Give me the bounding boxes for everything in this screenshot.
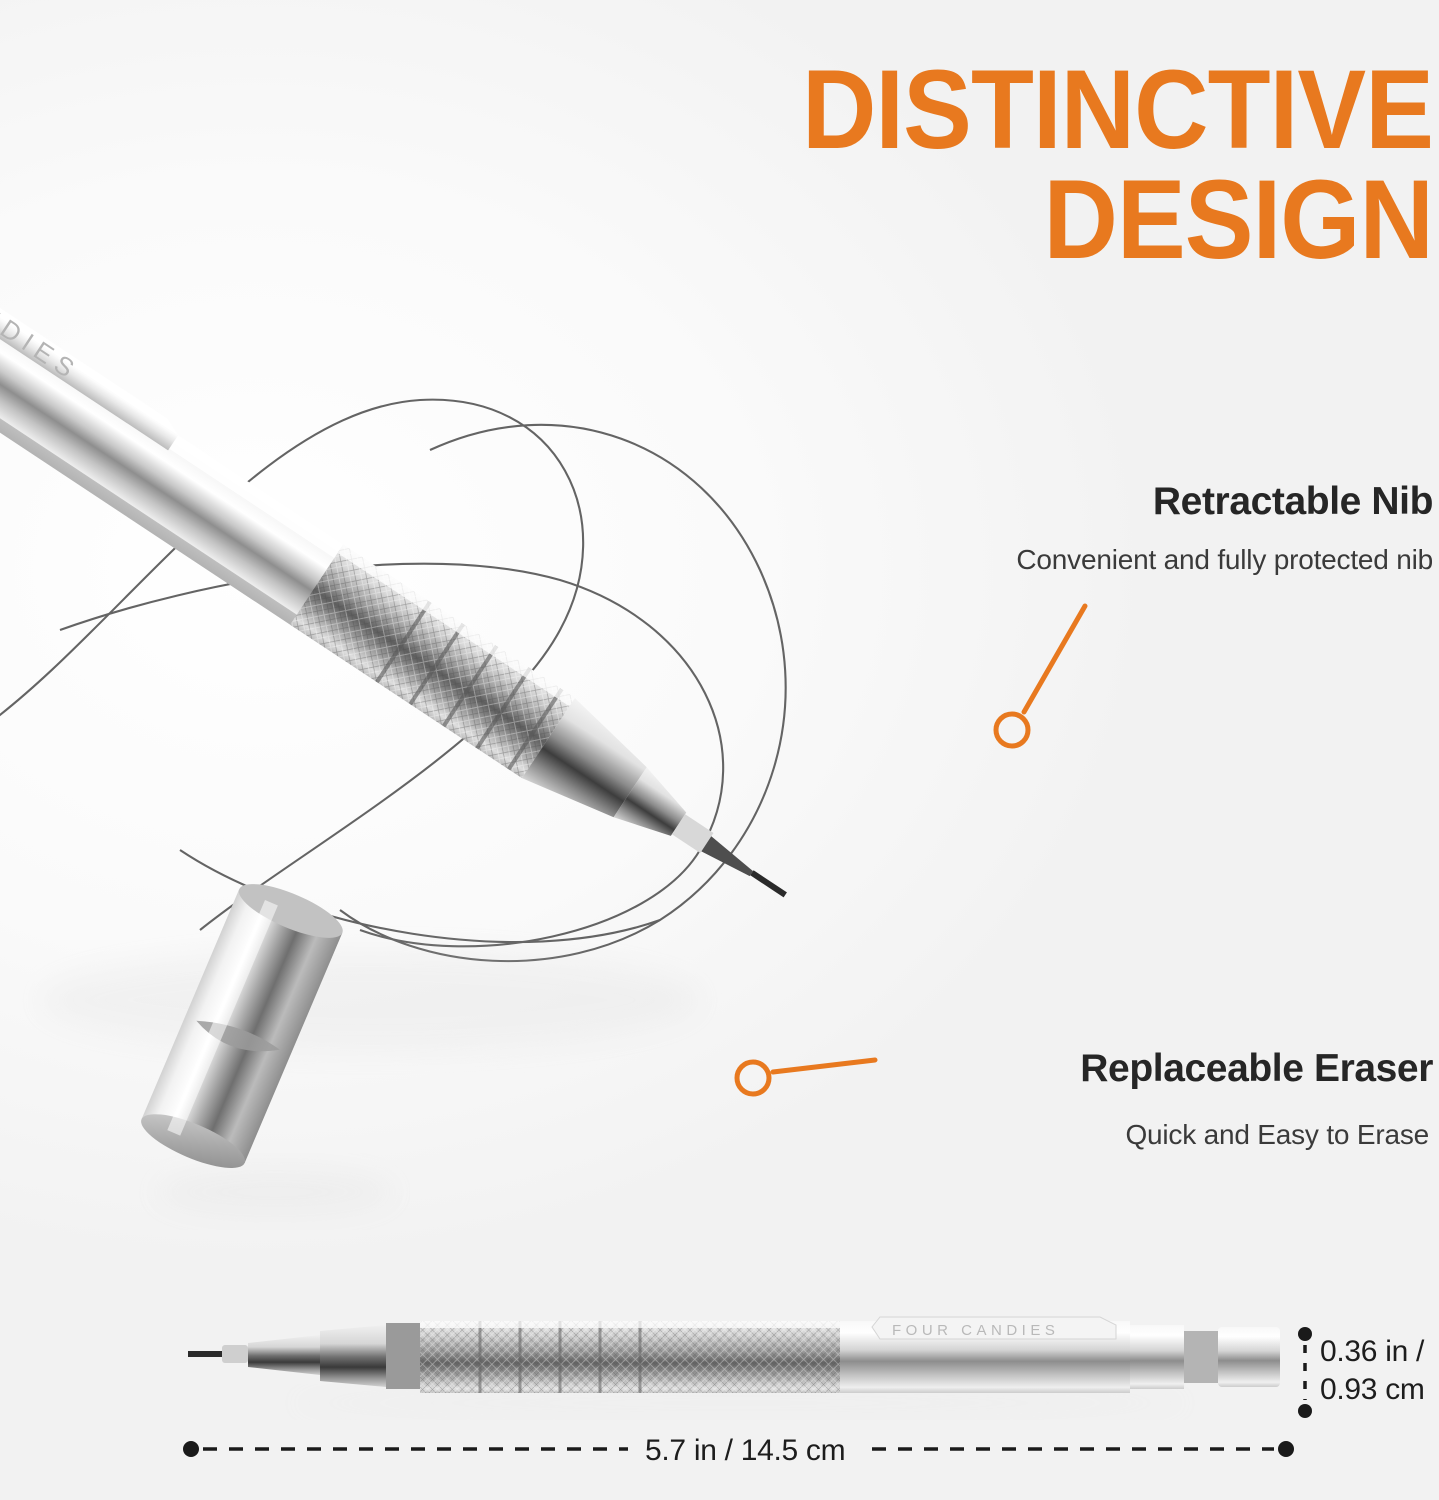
dimension-label-diameter: 0.36 in / 0.93 cm (1320, 1333, 1425, 1410)
detachable-cap (110, 880, 410, 1230)
callout-title-retractable-nib: Retractable Nib (1016, 480, 1433, 524)
dimension-label-length: 5.7 in / 14.5 cm (645, 1432, 845, 1470)
dimension-guide-diameter (1298, 1327, 1312, 1418)
callout-title-replaceable-eraser: Replaceable Eraser (1080, 1047, 1433, 1091)
page-title: DISTINCTIVE DESIGN (333, 58, 1433, 272)
bottom-pencil-dimension-view: FOUR CANDIES 0.7 (180, 1295, 1300, 1420)
dimension-label-diameter-line2: 0.93 cm (1320, 1371, 1425, 1409)
callout-replaceable-eraser: Replaceable Eraser Quick and Easy to Era… (1080, 1047, 1433, 1151)
callout-retractable-nib: Retractable Nib Convenient and fully pro… (1016, 480, 1433, 576)
infographic-canvas: FOUR CANDIES (0, 0, 1439, 1500)
callout-subtitle-retractable-nib: Convenient and fully protected nib (1016, 544, 1433, 576)
callout-subtitle-replaceable-eraser: Quick and Easy to Erase (1080, 1119, 1429, 1151)
dimension-label-diameter-line1: 0.36 in / (1320, 1333, 1425, 1371)
headline-line-2: DESIGN (421, 168, 1433, 272)
bottom-brand-engraving-text: FOUR CANDIES (892, 1322, 1059, 1339)
bottom-clip-engraving: FOUR CANDIES (872, 1317, 1116, 1339)
headline-line-1: DISTINCTIVE (421, 58, 1433, 162)
retractable-nib-assembly (522, 698, 812, 935)
knurled-grip (290, 545, 575, 778)
